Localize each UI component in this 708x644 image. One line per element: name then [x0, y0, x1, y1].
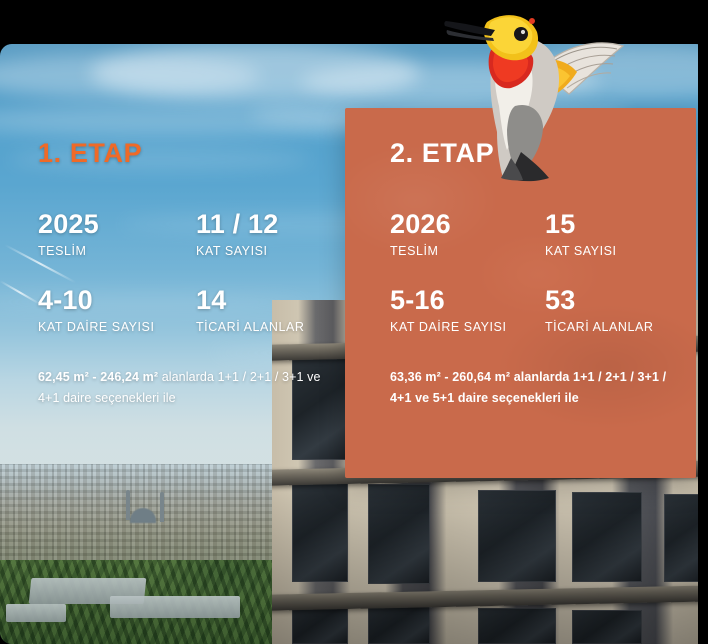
- phase-two-content: 2. ETAP 2026 TESLİM 15 KAT SAYISI 5-16 K…: [390, 140, 676, 408]
- stat-block-kat-daire-sayisi: 4-10 KAT DAİRE SAYISI: [38, 285, 196, 335]
- stat-block-ticari-alanlar: 53 TİCARİ ALANLAR: [545, 285, 676, 335]
- minaret-shape: [126, 490, 130, 520]
- window-pane: [368, 606, 430, 644]
- letterbox-right-bar: [698, 0, 708, 644]
- stat-block-kat-daire-sayisi: 5-16 KAT DAİRE SAYISI: [390, 285, 545, 335]
- stat-label: TİCARİ ALANLAR: [196, 320, 338, 335]
- stat-value: 53: [545, 285, 676, 315]
- stat-block-teslim: 2026 TESLİM: [390, 209, 545, 259]
- minaret-shape: [160, 492, 164, 522]
- window-pane: [368, 484, 430, 584]
- stat-label: TESLİM: [390, 244, 545, 259]
- phase-two-description: 63,36 m² - 260,64 m² alanlarda 1+1 / 2+1…: [390, 367, 676, 408]
- stat-label: TESLİM: [38, 244, 196, 259]
- phase-one-stat-grid: 2025 TESLİM 11 / 12 KAT SAYISI 4-10 KAT …: [38, 209, 338, 335]
- window-pane: [572, 492, 642, 582]
- stat-block-kat-sayisi: 11 / 12 KAT SAYISI: [196, 209, 338, 259]
- stat-value: 2026: [390, 209, 545, 239]
- phase-two-title: 2. ETAP: [390, 140, 676, 167]
- stat-block-teslim: 2025 TESLİM: [38, 209, 196, 259]
- phase-two-stat-grid: 2026 TESLİM 15 KAT SAYISI 5-16 KAT DAİRE…: [390, 209, 676, 335]
- building-shape: [110, 596, 240, 618]
- building-shape: [6, 604, 66, 622]
- stat-value: 4-10: [38, 285, 196, 315]
- window-pane: [292, 606, 348, 644]
- stat-value: 5-16: [390, 285, 545, 315]
- stat-label: KAT SAYISI: [196, 244, 338, 259]
- description-area-range: 62,45 m² - 246,24 m²: [38, 370, 158, 384]
- phase-one-description: 62,45 m² - 246,24 m² alanlarda 1+1 / 2+1…: [38, 367, 338, 408]
- window-pane: [572, 610, 642, 644]
- window-pane: [478, 490, 556, 582]
- phase-one-title: 1. ETAP: [38, 140, 338, 167]
- description-area-range: 63,36 m² - 260,64 m²: [390, 370, 510, 384]
- stat-label: KAT SAYISI: [545, 244, 676, 259]
- stat-label: KAT DAİRE SAYISI: [38, 320, 196, 335]
- stat-value: 15: [545, 209, 676, 239]
- stat-value: 2025: [38, 209, 196, 239]
- window-pane: [292, 482, 348, 582]
- promo-card-stage: 1. ETAP 2025 TESLİM 11 / 12 KAT SAYISI 4…: [0, 0, 708, 644]
- stat-block-kat-sayisi: 15 KAT SAYISI: [545, 209, 676, 259]
- phase-one-panel: 1. ETAP 2025 TESLİM 11 / 12 KAT SAYISI 4…: [38, 140, 338, 408]
- stat-value: 11 / 12: [196, 209, 338, 239]
- stat-label: TİCARİ ALANLAR: [545, 320, 676, 335]
- window-pane: [478, 608, 556, 644]
- stat-value: 14: [196, 285, 338, 315]
- letterbox-top-bar: [0, 0, 708, 44]
- phase-two-panel: 2. ETAP 2026 TESLİM 15 KAT SAYISI 5-16 K…: [345, 108, 696, 478]
- stat-label: KAT DAİRE SAYISI: [390, 320, 545, 335]
- stat-block-ticari-alanlar: 14 TİCARİ ALANLAR: [196, 285, 338, 335]
